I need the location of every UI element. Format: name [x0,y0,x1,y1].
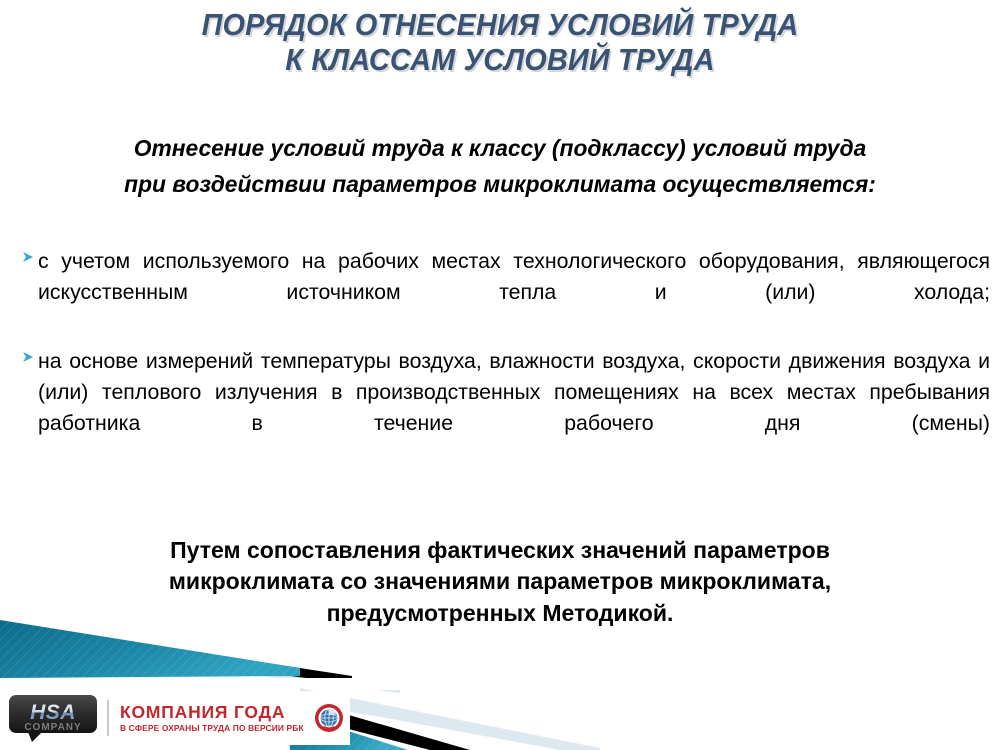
logo-divider [107,700,109,736]
globe-seal-icon [314,703,344,733]
subtitle: Отнесение условий труда к классу (подкла… [30,131,970,202]
closing-line-2: микроклимата со значениями параметров ми… [108,566,892,597]
subtitle-line-1: Отнесение условий труда к классу (подкла… [44,131,956,167]
arrow-bullet-icon [22,349,36,365]
closing-line-1: Путем сопоставления фактических значений… [108,535,892,566]
list-item-text: с учетом используемого на рабочих местах… [38,249,990,304]
award-text-block: КОМПАНИЯ ГОДА В СФЕРЕ ОХРАНЫ ТРУДА ПО ВЕ… [120,703,304,733]
list-item-text: на основе измерений температуры воздуха,… [38,349,990,435]
list-item: на основе измерений температуры воздуха,… [22,346,990,470]
closing-paragraph: Путем сопоставления фактических значений… [100,535,900,629]
bullet-list: с учетом используемого на рабочих местах… [22,246,990,470]
closing-line-3: предусмотренных Методикой. [108,598,892,629]
title-line-1: ПОРЯДОК ОТНЕСЕНИЯ УСЛОВИЙ ТРУДА [35,8,965,43]
list-item: с учетом используемого на рабочих местах… [22,246,990,339]
hsa-logo: HSA COMPANY [8,694,98,742]
award-title: КОМПАНИЯ ГОДА [120,703,304,722]
svg-text:COMPANY: COMPANY [24,722,81,733]
svg-text:HSA: HSA [30,701,76,724]
title-line-2: К КЛАССАМ УСЛОВИЙ ТРУДА [35,43,965,78]
subtitle-line-2: при воздействии параметров микроклимата … [44,167,956,203]
award-subtitle: В СФЕРЕ ОХРАНЫ ТРУДА ПО ВЕРСИИ РБК [120,723,304,734]
slide-canvas: ПОРЯДОК ОТНЕСЕНИЯ УСЛОВИЙ ТРУДА К КЛАССА… [0,0,1000,750]
footer-logo-bar: HSA COMPANY КОМПАНИЯ ГОДА В СФЕРЕ ОХРАНЫ… [8,691,350,745]
arrow-bullet-icon [22,249,36,265]
page-title: ПОРЯДОК ОТНЕСЕНИЯ УСЛОВИЙ ТРУДА К КЛАССА… [0,8,1000,77]
